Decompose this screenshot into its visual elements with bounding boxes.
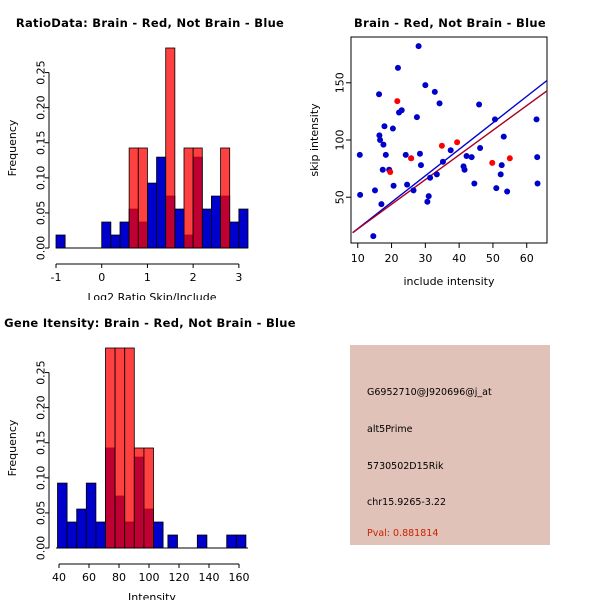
scatter-point (535, 180, 541, 186)
histogram-bar (58, 483, 68, 548)
scatter-point (439, 143, 445, 149)
x-axis-tick-label: 30 (418, 252, 432, 265)
y-axis-tick-label: 0.25 (35, 360, 48, 385)
x-axis-label: Intensity (128, 591, 176, 600)
scatter-point (437, 100, 443, 106)
histogram-bar (154, 522, 164, 548)
x-axis-tick-label: 120 (169, 571, 190, 584)
scatter-point (387, 169, 393, 175)
scatter-title: Brain - Red, Not Brain - Blue (300, 16, 600, 30)
x-axis-tick-label: 10 (351, 252, 365, 265)
scatter-point (416, 43, 422, 49)
scatter-point (381, 123, 387, 129)
scatter-point (426, 193, 432, 199)
scatter-point (411, 187, 417, 193)
histogram-bar (211, 196, 220, 248)
x-axis-label: include intensity (403, 275, 495, 288)
histogram-bar (77, 509, 87, 548)
scatter-point (376, 91, 382, 97)
histogram-bar (230, 222, 239, 248)
scatter-point (501, 134, 507, 140)
scatter-point (432, 89, 438, 95)
ratio-histogram-plot: 0.000.050.100.150.200.25-10123Log2 Ratio… (0, 0, 300, 300)
ratio-histogram-title: RatioData: Brain - Red, Not Brain - Blue (0, 16, 300, 30)
histogram-bar (227, 535, 237, 548)
scatter-point (422, 82, 428, 88)
histogram-bar (166, 48, 175, 248)
histogram-bar (67, 522, 77, 548)
scatter-point (440, 159, 446, 165)
histogram-bar (202, 209, 211, 248)
x-axis-tick-label: 40 (52, 571, 66, 584)
scatter-point (403, 152, 409, 158)
y-axis-tick-label: 0.00 (35, 536, 48, 561)
histogram-bar (120, 222, 129, 248)
scatter-point (427, 175, 433, 181)
x-axis-tick-label: 1 (144, 271, 151, 284)
event-type-text: alt5Prime (367, 424, 412, 435)
y-axis-tick-label: 0.20 (35, 395, 48, 420)
y-axis-tick-label: 0.05 (35, 201, 48, 226)
scatter-point (464, 153, 470, 159)
probe-id-text: G6952710@J920696@j_at (367, 387, 492, 398)
gene-intensity-histogram-plot: 0.000.050.100.150.200.254060801001201401… (0, 300, 300, 600)
y-axis-tick-label: 150 (334, 72, 347, 93)
scatter-point (390, 126, 396, 132)
intensity-scatter-plot: 50100150102030405060include intensityski… (300, 0, 600, 300)
scatter-point (462, 167, 468, 173)
x-axis-tick-label: 100 (139, 571, 160, 584)
y-axis-tick-label: 50 (334, 190, 347, 204)
y-axis-tick-label: 0.10 (35, 166, 48, 191)
histogram-bar (125, 348, 135, 548)
scatter-point (454, 139, 460, 145)
histogram-bar (157, 157, 166, 248)
y-axis-label: skip intensity (308, 103, 321, 177)
y-axis-label: Frequency (6, 419, 19, 476)
scatter-point (471, 180, 477, 186)
panel-gene-histogram: Gene Itensity: Brain - Red, Not Brain - … (0, 300, 300, 600)
scatter-point (489, 160, 495, 166)
histogram-bar (175, 209, 184, 248)
histogram-bar (106, 348, 116, 548)
scatter-point (380, 167, 386, 173)
panel-intensity-scatter: Brain - Red, Not Brain - Blue 5010015010… (300, 0, 600, 300)
x-axis-tick-label: 50 (486, 252, 500, 265)
histogram-bar (56, 235, 65, 248)
x-axis-tick-label: 0 (98, 271, 105, 284)
gene-info-panel: G6952710@J920696@j_at alt5Prime 5730502D… (350, 345, 550, 545)
regression-line (353, 91, 547, 233)
scatter-point (414, 114, 420, 120)
histogram-bar (129, 148, 138, 248)
scatter-point (534, 116, 540, 122)
scatter-point (357, 192, 363, 198)
histogram-bar (193, 148, 202, 248)
y-axis-tick-label: 100 (334, 130, 347, 151)
scatter-point (477, 145, 483, 151)
histogram-bar (197, 535, 207, 548)
x-axis-tick-label: 40 (452, 252, 466, 265)
scatter-point (391, 183, 397, 189)
scatter-point (383, 152, 389, 158)
x-axis-tick-label: 20 (385, 252, 399, 265)
histogram-bar (239, 209, 248, 248)
y-axis-tick-label: 0.25 (35, 60, 48, 85)
y-axis-tick-label: 0.15 (35, 430, 48, 455)
histogram-bar (96, 522, 106, 548)
regression-line (353, 80, 547, 232)
x-axis-tick-label: 60 (520, 252, 534, 265)
y-axis-tick-label: 0.00 (35, 236, 48, 261)
scatter-point (408, 155, 414, 161)
x-axis-tick-label: 160 (229, 571, 250, 584)
histogram-bar (236, 535, 246, 548)
histogram-bar (111, 235, 120, 248)
scatter-point (380, 142, 386, 148)
scatter-point (370, 233, 376, 239)
histogram-bar (168, 535, 178, 548)
x-axis-label: Log2 Ratio Skip/Include (87, 291, 216, 300)
x-axis-tick-label: 80 (112, 571, 126, 584)
histogram-bar (221, 148, 230, 248)
scatter-point (434, 171, 440, 177)
scatter-point (469, 154, 475, 160)
histogram-bar (184, 148, 193, 248)
scatter-point (399, 107, 405, 113)
scatter-point (534, 154, 540, 160)
gene-histogram-title: Gene Itensity: Brain - Red, Not Brain - … (0, 316, 300, 330)
y-axis-tick-label: 0.20 (35, 95, 48, 120)
scatter-point (378, 201, 384, 207)
histogram-bar (147, 183, 156, 248)
x-axis-tick-label: 140 (199, 571, 220, 584)
scatter-point (492, 116, 498, 122)
scatter-point (507, 155, 513, 161)
histogram-bar (138, 148, 147, 248)
scatter-point (372, 187, 378, 193)
pval-text: Pval: 0.881814 (367, 528, 438, 539)
scatter-point (448, 147, 454, 153)
scatter-point (424, 199, 430, 205)
histogram-bar (134, 448, 144, 548)
y-axis-tick-label: 0.10 (35, 466, 48, 491)
x-axis-tick-label: 3 (235, 271, 242, 284)
histogram-bar (115, 348, 125, 548)
scatter-point (493, 185, 499, 191)
scatter-point (404, 182, 410, 188)
scatter-point (504, 189, 510, 195)
scatter-point (499, 162, 505, 168)
x-axis-tick-label: 60 (82, 571, 96, 584)
gene-symbol-text: 5730502D15Rik (367, 461, 443, 472)
scatter-point (357, 152, 363, 158)
histogram-bar (102, 222, 111, 248)
scatter-point (417, 151, 423, 157)
scatter-point (394, 98, 400, 104)
y-axis-tick-label: 0.15 (35, 130, 48, 155)
scatter-point (418, 162, 424, 168)
y-axis-tick-label: 0.05 (35, 501, 48, 526)
histogram-bar (86, 483, 96, 548)
x-axis-tick-label: 2 (190, 271, 197, 284)
x-axis-tick-label: -1 (51, 271, 62, 284)
y-axis-label: Frequency (6, 119, 19, 176)
locus-text: chr15.9265-3.22 (367, 497, 446, 508)
scatter-point (395, 65, 401, 71)
panel-ratio-histogram: RatioData: Brain - Red, Not Brain - Blue… (0, 0, 300, 300)
scatter-point (476, 102, 482, 108)
histogram-bar (144, 448, 154, 548)
scatter-point (498, 171, 504, 177)
